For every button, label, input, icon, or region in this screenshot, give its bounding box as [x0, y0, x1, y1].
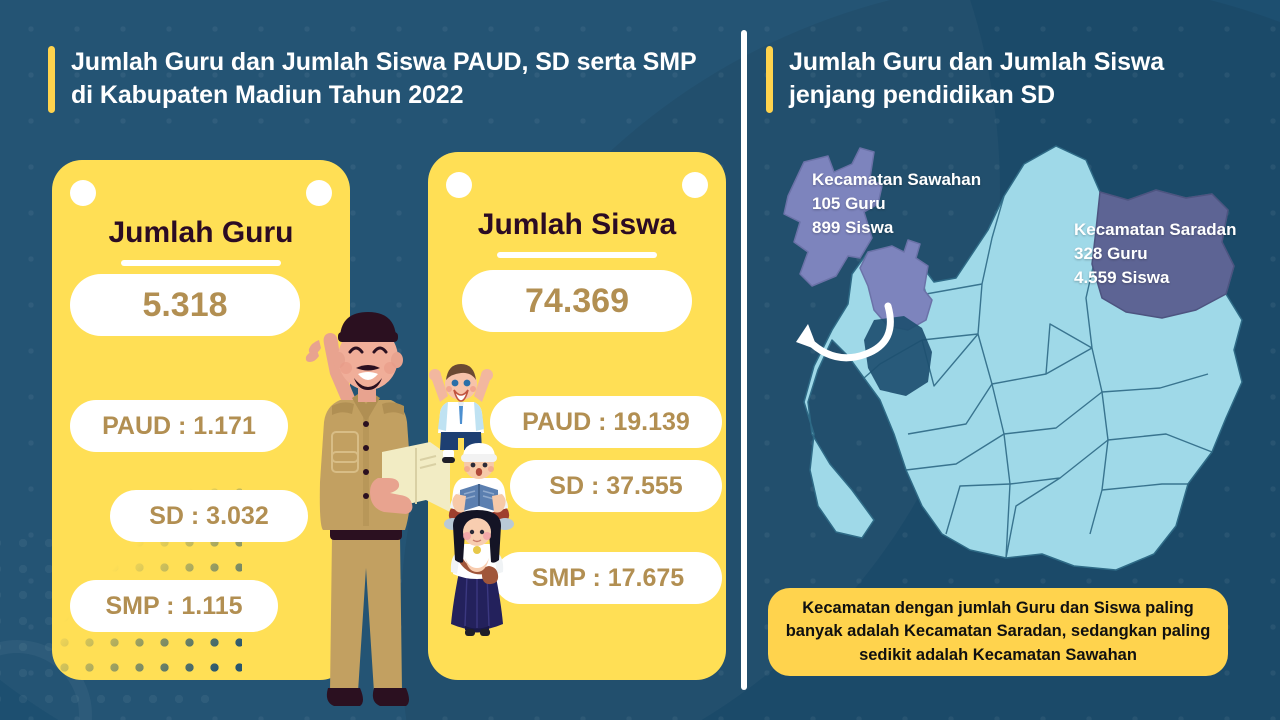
siswa-paud-value: PAUD : 19.139 — [522, 408, 690, 437]
card-hole-left — [70, 180, 96, 206]
left-heading-text: Jumlah Guru dan Jumlah Siswa PAUD, SD se… — [71, 46, 708, 113]
card-hole-right — [306, 180, 332, 206]
guru-smp-pill: SMP : 1.115 — [70, 580, 278, 632]
map-summary-note: Kecamatan dengan jumlah Guru dan Siswa p… — [768, 588, 1228, 676]
sawahan-guru: 105 Guru — [812, 192, 981, 216]
card-title-underline — [497, 252, 657, 258]
card-hole-right — [682, 172, 708, 198]
guru-paud-value: PAUD : 1.171 — [102, 412, 256, 441]
siswa-total-value: 74.369 — [525, 282, 629, 321]
map-label-saradan: Kecamatan Saradan 328 Guru 4.559 Siswa — [1074, 218, 1237, 290]
guru-total-pill: 5.318 — [70, 274, 300, 336]
heading-accent-bar — [48, 46, 55, 113]
right-panel-heading: Jumlah Guru dan Jumlah Siswa jenjang pen… — [766, 46, 1236, 113]
guru-paud-pill: PAUD : 1.171 — [70, 400, 288, 452]
left-panel-heading: Jumlah Guru dan Jumlah Siswa PAUD, SD se… — [48, 46, 708, 113]
saradan-guru: 328 Guru — [1074, 242, 1237, 266]
map-region: Kecamatan Sawahan 105 Guru 899 Siswa Kec… — [756, 134, 1266, 584]
map-label-sawahan: Kecamatan Sawahan 105 Guru 899 Siswa — [812, 168, 981, 240]
saradan-name: Kecamatan Saradan — [1074, 218, 1237, 242]
siswa-smp-pill: SMP : 17.675 — [494, 552, 722, 604]
heading-accent-bar — [766, 46, 773, 113]
card-title-underline — [121, 260, 281, 266]
card-hole-left — [446, 172, 472, 198]
guru-total-value: 5.318 — [142, 286, 227, 325]
card-title-siswa: Jumlah Siswa — [428, 208, 726, 242]
sawahan-siswa: 899 Siswa — [812, 216, 981, 240]
siswa-sd-pill: SD : 37.555 — [510, 460, 722, 512]
guru-sd-value: SD : 3.032 — [149, 502, 269, 531]
sawahan-name: Kecamatan Sawahan — [812, 168, 981, 192]
card-title-guru: Jumlah Guru — [52, 216, 350, 250]
panel-divider — [741, 30, 747, 690]
right-heading-text: Jumlah Guru dan Jumlah Siswa jenjang pen… — [789, 46, 1236, 113]
guru-smp-value: SMP : 1.115 — [105, 592, 242, 621]
siswa-smp-value: SMP : 17.675 — [532, 564, 684, 593]
siswa-paud-pill: PAUD : 19.139 — [490, 396, 722, 448]
siswa-sd-value: SD : 37.555 — [549, 472, 682, 501]
note-text: Kecamatan dengan jumlah Guru dan Siswa p… — [782, 597, 1214, 668]
schoolgirl-illustration — [443, 508, 511, 640]
saradan-siswa: 4.559 Siswa — [1074, 266, 1237, 290]
siswa-total-pill: 74.369 — [462, 270, 692, 332]
